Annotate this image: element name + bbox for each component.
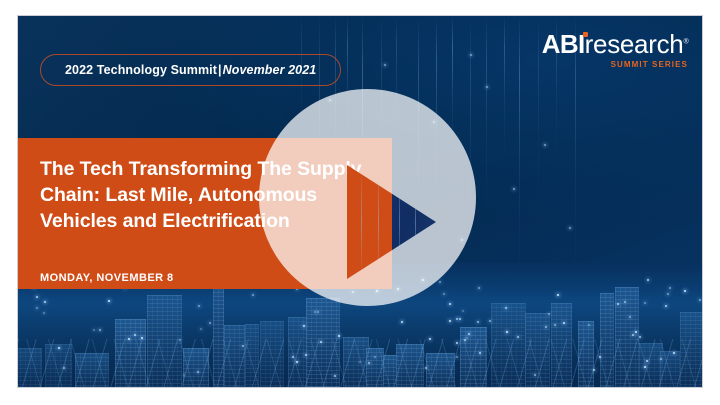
building-light bbox=[456, 356, 458, 358]
building-light bbox=[599, 356, 601, 358]
building-light bbox=[699, 299, 701, 301]
building-light bbox=[669, 287, 671, 289]
summit-name: 2022 Technology Summit bbox=[65, 63, 217, 77]
building-light bbox=[443, 293, 445, 295]
building-light bbox=[359, 361, 361, 363]
building-light bbox=[479, 352, 481, 354]
building-light bbox=[292, 356, 294, 358]
building-light bbox=[303, 325, 305, 327]
building-light bbox=[456, 342, 458, 344]
video-thumbnail-card[interactable]: 2022 Technology Summit | November 2021 A… bbox=[17, 15, 703, 388]
summit-date-badge: 2022 Technology Summit | November 2021 bbox=[40, 54, 341, 86]
building-light bbox=[183, 374, 185, 376]
building-light bbox=[554, 324, 556, 326]
building-light bbox=[93, 329, 95, 331]
logo-tagline: SUMMIT SERIES bbox=[542, 61, 688, 69]
building-light bbox=[43, 312, 45, 314]
building-light bbox=[684, 290, 686, 292]
building-light bbox=[429, 338, 431, 340]
building-light bbox=[320, 341, 322, 343]
building-light bbox=[242, 345, 244, 347]
building-light bbox=[36, 296, 38, 298]
building-light bbox=[456, 318, 458, 320]
building-light bbox=[200, 328, 202, 330]
building-light bbox=[58, 347, 60, 349]
play-triangle-orange-half bbox=[347, 165, 392, 279]
building-light bbox=[468, 333, 470, 335]
building-light bbox=[36, 307, 38, 309]
building-light bbox=[128, 338, 130, 340]
building-light bbox=[338, 335, 340, 337]
building-light bbox=[667, 293, 669, 295]
play-triangle-icon bbox=[347, 165, 436, 279]
building-light bbox=[673, 352, 675, 354]
abi-research-logo: ABIresearch® SUMMIT SERIES bbox=[542, 31, 688, 69]
building-light bbox=[252, 294, 254, 296]
building-light bbox=[646, 360, 648, 362]
building-light bbox=[462, 310, 464, 312]
building-light bbox=[660, 358, 662, 360]
building-light bbox=[63, 367, 65, 369]
building-light bbox=[647, 279, 649, 281]
building-light bbox=[449, 320, 451, 322]
building-light bbox=[99, 329, 101, 331]
play-triangle-streak bbox=[399, 165, 400, 279]
building-light bbox=[439, 281, 441, 283]
building-light bbox=[401, 321, 403, 323]
building-light bbox=[545, 326, 547, 328]
building-light bbox=[374, 356, 376, 358]
building-light bbox=[588, 324, 590, 326]
building-light bbox=[108, 300, 110, 302]
building-light bbox=[209, 322, 211, 324]
logo-research-text: research bbox=[585, 29, 684, 59]
building-light bbox=[478, 287, 480, 289]
event-date-label: MONDAY, NOVEMBER 8 bbox=[40, 272, 174, 284]
building-light bbox=[141, 337, 143, 339]
building-light bbox=[629, 316, 631, 318]
building-light bbox=[489, 320, 491, 322]
building-light bbox=[665, 305, 667, 307]
building-light bbox=[534, 374, 536, 376]
building-light bbox=[459, 318, 461, 320]
play-triangle-streak bbox=[378, 165, 379, 279]
building-light bbox=[197, 371, 199, 373]
building-light bbox=[179, 339, 181, 341]
building-light bbox=[644, 302, 646, 304]
play-triangle-streak bbox=[361, 165, 362, 279]
building-light bbox=[548, 313, 550, 315]
building-light bbox=[635, 331, 637, 333]
building-light bbox=[464, 339, 466, 341]
building-light bbox=[44, 301, 46, 303]
building-light bbox=[632, 334, 634, 336]
building-light bbox=[506, 331, 508, 333]
building-light bbox=[639, 336, 641, 338]
building-light bbox=[466, 337, 468, 339]
play-button[interactable] bbox=[259, 89, 476, 306]
logo-i-dot-icon bbox=[583, 32, 588, 37]
registered-trademark-icon: ® bbox=[683, 38, 688, 45]
building-light bbox=[314, 311, 316, 313]
logo-abi-text: ABI bbox=[542, 29, 585, 59]
logo-wordmark: ABIresearch® bbox=[542, 31, 688, 57]
play-triangle-streak bbox=[415, 165, 416, 279]
building-light bbox=[334, 375, 336, 377]
building-light bbox=[449, 303, 451, 305]
building-light bbox=[317, 311, 319, 313]
building-light bbox=[477, 321, 479, 323]
building-light bbox=[198, 305, 200, 307]
building-light bbox=[593, 369, 595, 371]
building-light bbox=[505, 307, 507, 309]
building-light bbox=[617, 303, 619, 305]
building-light bbox=[517, 336, 519, 338]
summit-month: November 2021 bbox=[223, 63, 317, 77]
building-light bbox=[425, 367, 427, 369]
building-light bbox=[296, 361, 298, 363]
building-light bbox=[557, 294, 559, 296]
building-light bbox=[624, 301, 626, 303]
building-light bbox=[644, 366, 646, 368]
building-light bbox=[563, 322, 565, 324]
building-light bbox=[305, 354, 307, 356]
building-light bbox=[368, 362, 370, 364]
building-light bbox=[134, 334, 136, 336]
